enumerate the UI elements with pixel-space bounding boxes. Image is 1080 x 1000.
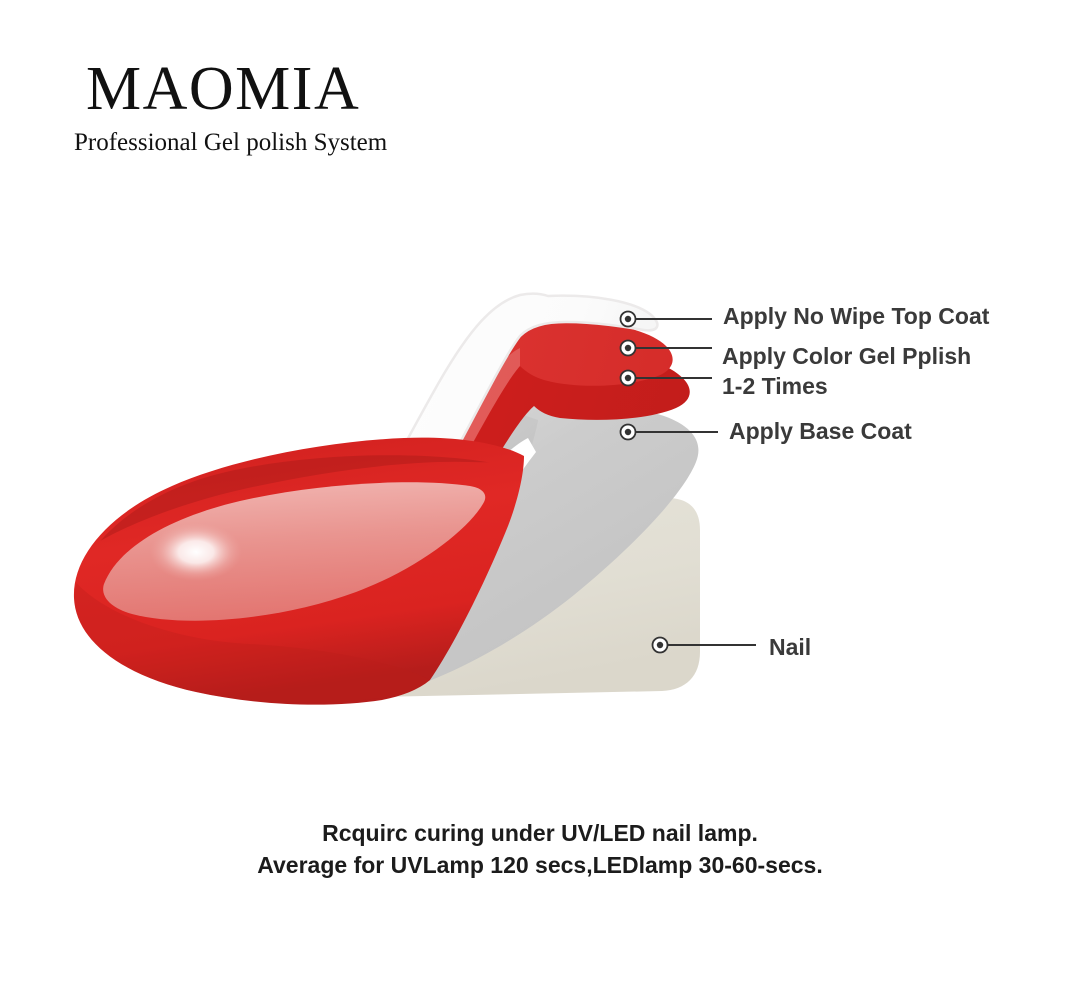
callout-dot-nail: [653, 638, 668, 653]
callout-label-base-coat: Apply Base Coat: [729, 418, 912, 444]
layer-base-coat: [305, 403, 698, 704]
layer-nail-plate: [294, 498, 700, 698]
callout-dot-times: [621, 371, 636, 386]
callout-dot-base-coat: [621, 425, 636, 440]
callout-dots: [621, 312, 668, 653]
callout-dot-top-coat: [621, 312, 636, 327]
callout-label-color-gel: Apply Color Gel Pplish: [722, 343, 971, 369]
curing-instructions-line-2: Average for UVLamp 120 secs,LEDlamp 30-6…: [0, 850, 1080, 882]
layer-no-wipe-top-coat: [292, 294, 658, 690]
layer-color-gel-lower: [308, 349, 690, 698]
layer-color-gel-upper: [300, 319, 673, 694]
brand-tagline: Professional Gel polish System: [74, 129, 566, 157]
callout-label-nail: Nail: [769, 634, 811, 660]
brand-block: MAOMIA Professional Gel polish System: [86, 58, 566, 157]
callout-dot-color-gel: [621, 341, 636, 356]
layer-red-nail-body: [74, 438, 536, 707]
curing-instructions: Rcquirc curing under UV/LED nail lamp. A…: [0, 818, 1080, 881]
callout-label-top-coat: Apply No Wipe Top Coat: [723, 303, 989, 329]
curing-instructions-line-1: Rcquirc curing under UV/LED nail lamp.: [0, 818, 1080, 850]
brand-name: MAOMIA: [86, 58, 566, 120]
callout-label-times: 1-2 Times: [722, 373, 828, 399]
